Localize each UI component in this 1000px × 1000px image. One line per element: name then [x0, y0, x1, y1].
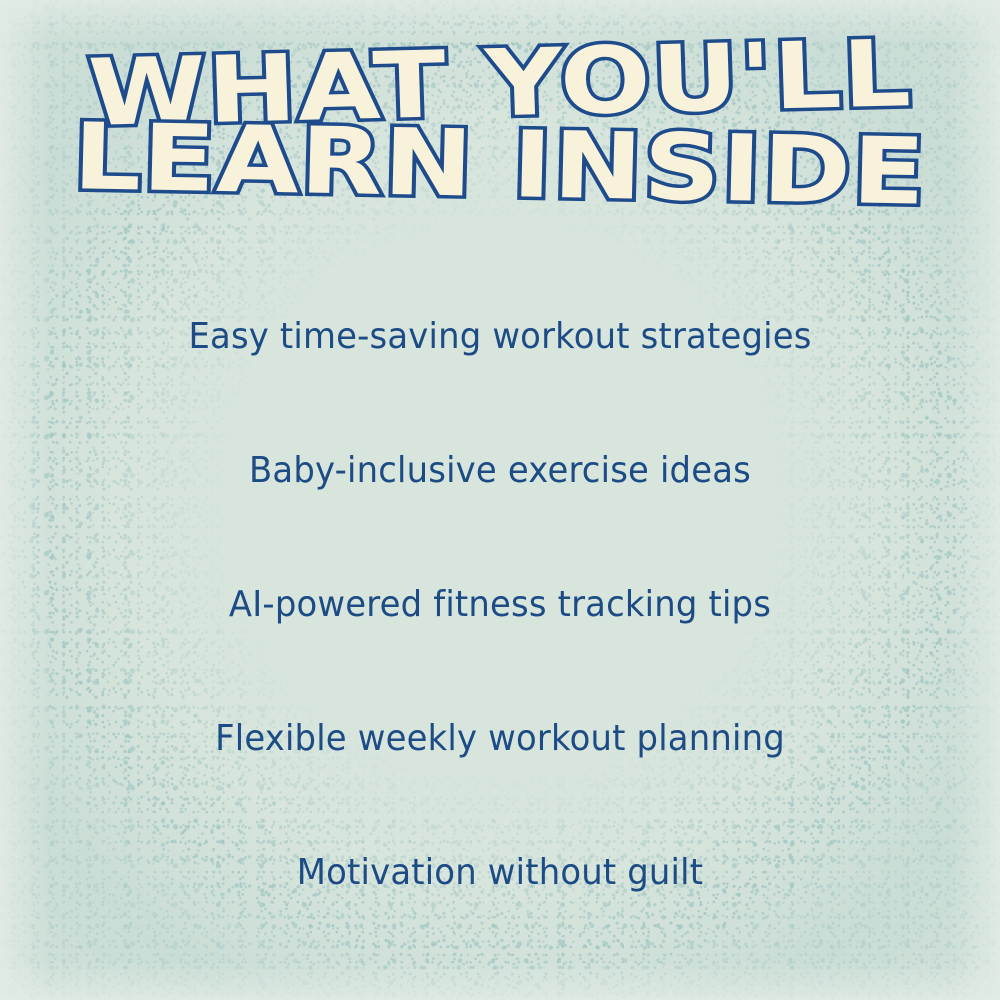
headline-line-2: LEARN INSIDE: [0, 127, 1000, 204]
poster-canvas: WHAT YOU'LL LEARN INSIDE Easy time-savin…: [0, 0, 1000, 1000]
learn-list: Easy time-saving workout strategies Baby…: [0, 270, 1000, 940]
list-item: AI-powered fitness tracking tips: [30, 538, 970, 672]
list-item: Baby-inclusive exercise ideas: [30, 404, 970, 538]
list-item: Easy time-saving workout strategies: [30, 270, 970, 404]
headline-block: WHAT YOU'LL LEARN INSIDE: [0, 44, 1000, 205]
list-item: Flexible weekly workout planning: [30, 672, 970, 806]
headline-line-2-text: LEARN INSIDE: [73, 119, 928, 212]
list-item: Motivation without guilt: [30, 806, 970, 940]
